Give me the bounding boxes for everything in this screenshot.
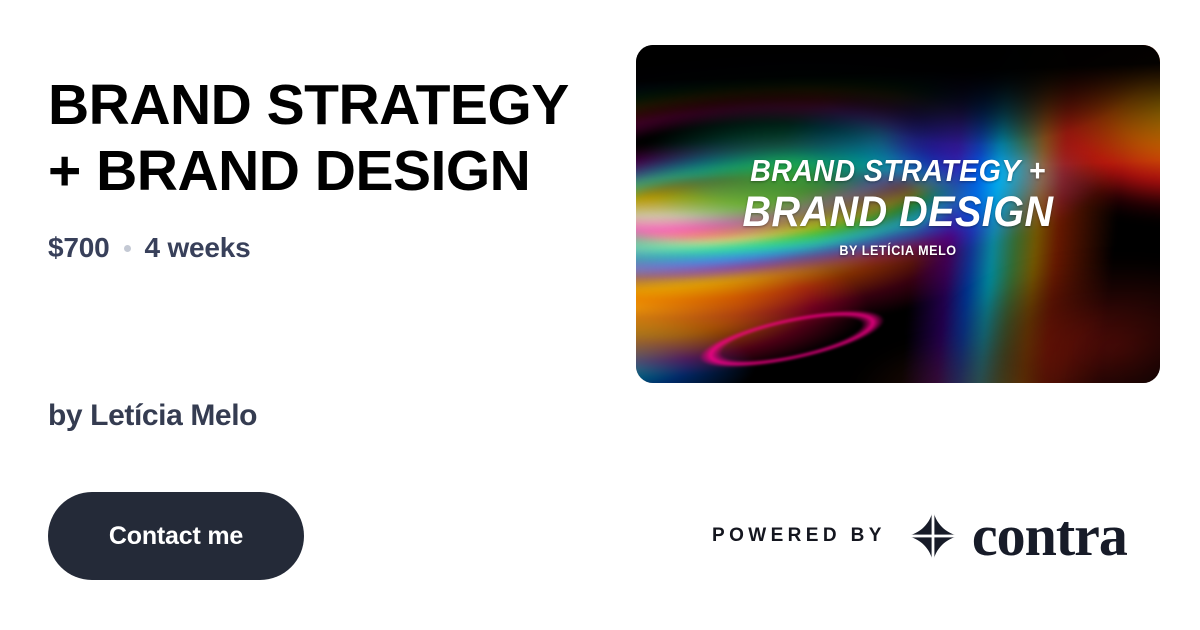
contra-star-icon — [904, 507, 962, 565]
cover-text-block: BRAND STRATEGY + BRAND DESIGN BY LETÍCIA… — [636, 153, 1160, 258]
page-title: BRAND STRATEGY + BRAND DESIGN — [48, 72, 608, 204]
listing-details: BRAND STRATEGY + BRAND DESIGN $700 4 wee… — [48, 0, 608, 630]
powered-by-contra[interactable]: POWERED BY contra — [712, 505, 1127, 567]
listing-meta: $700 4 weeks — [48, 232, 251, 264]
price-value: $700 — [48, 232, 110, 264]
contra-wordmark: contra — [972, 507, 1127, 565]
powered-by-label: POWERED BY — [712, 525, 886, 547]
contact-me-button[interactable]: Contact me — [48, 492, 304, 580]
share-card-page: BRAND STRATEGY + BRAND DESIGN $700 4 wee… — [0, 0, 1200, 630]
cover-headline-line-2: BRAND DESIGN — [657, 189, 1139, 236]
cover-card[interactable]: BRAND STRATEGY + BRAND DESIGN BY LETÍCIA… — [636, 45, 1160, 383]
cover-credit: BY LETÍCIA MELO — [662, 242, 1134, 258]
cover-headline-line-1: BRAND STRATEGY + — [657, 153, 1139, 189]
meta-separator-dot — [124, 245, 131, 252]
duration-value: 4 weeks — [145, 232, 251, 264]
author-byline: by Letícia Melo — [48, 399, 257, 433]
